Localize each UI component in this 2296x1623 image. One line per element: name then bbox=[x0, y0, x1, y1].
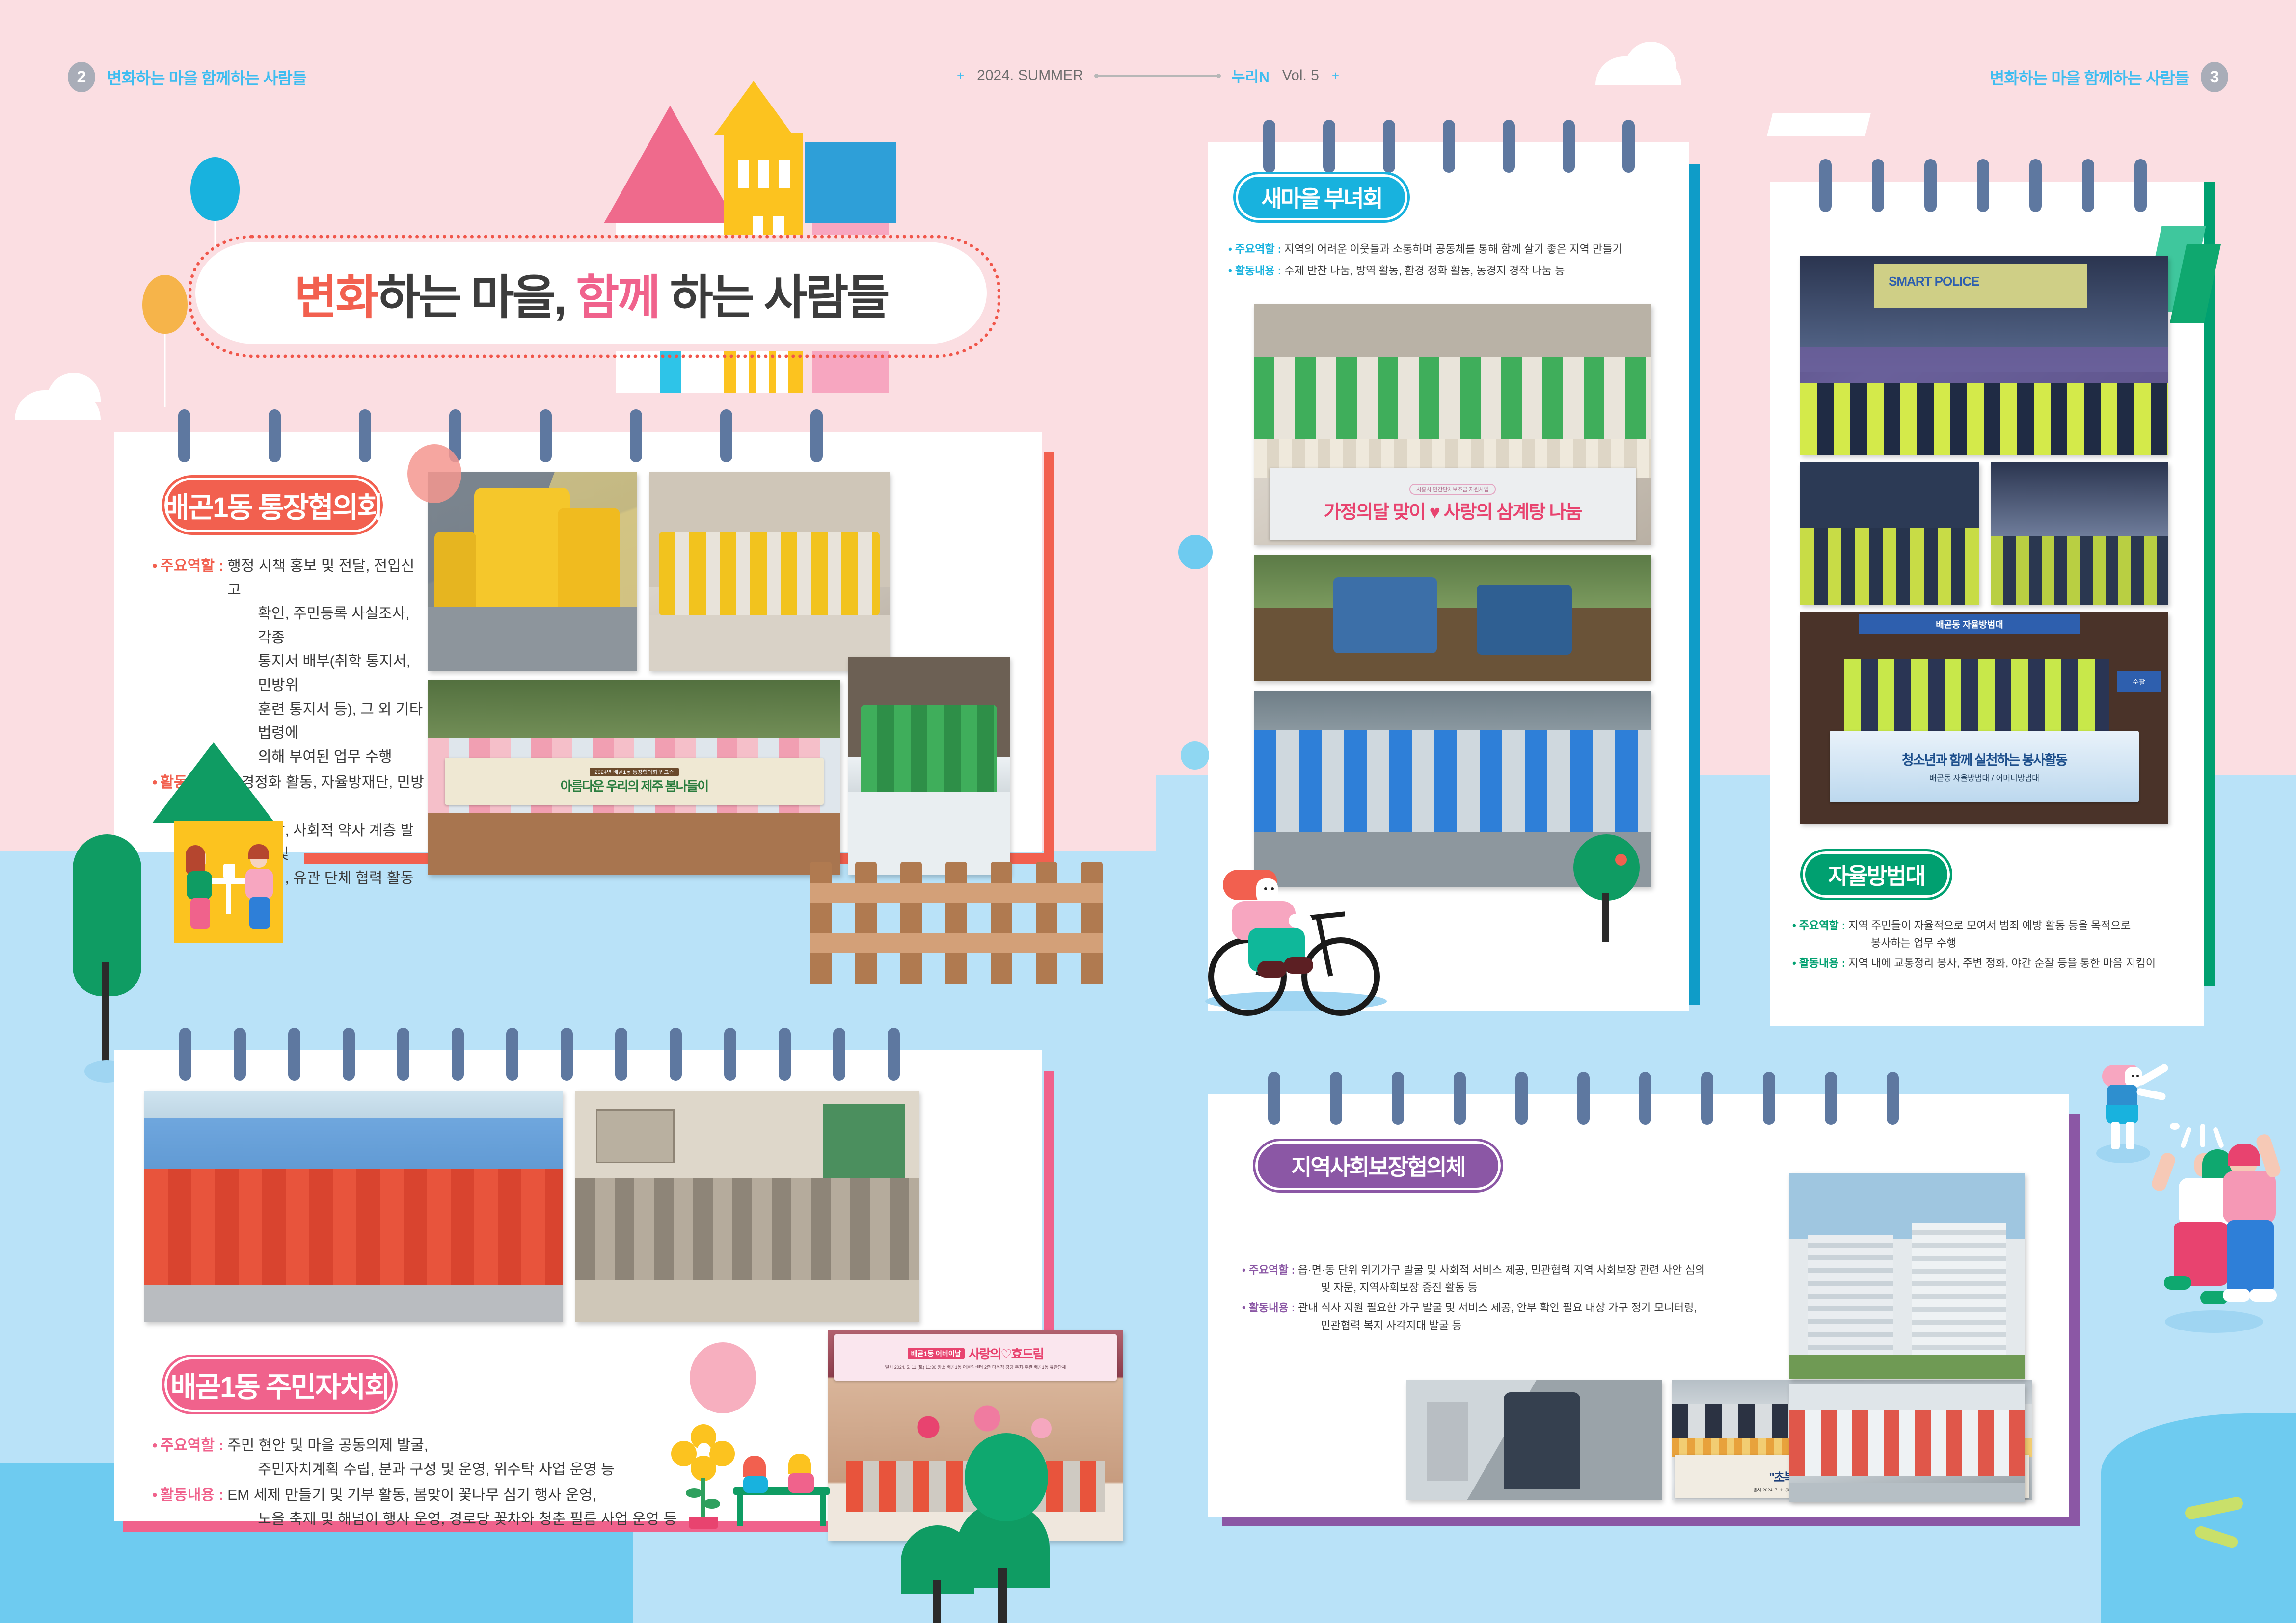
cafe-person-right-hair bbox=[248, 844, 269, 859]
spiral-binding-card5 bbox=[1208, 1072, 2069, 1094]
card3-role-row: •주요역할 : 지역의 어려운 이웃들과 소통하며 공동체를 통해 함께 살기 … bbox=[1228, 240, 1670, 258]
jeju-banner-main: 아름다운 우리의 제주 봄나들이 bbox=[561, 776, 708, 795]
card4-activity-text: 지역 내에 교통정리 봉사, 주변 정화, 야간 순찰 등을 통한 마음 지킴이 bbox=[1848, 955, 2156, 972]
hyo-drim-banner: 배곧1동 어버이날 사랑의♡효드림 일시 2024. 5. 11.(토) 11:… bbox=[834, 1334, 1117, 1381]
jeju-workshop-photo: 2024년 배곧1동 통장협의회 워크숍 아름다운 우리의 제주 봄나들이 bbox=[428, 680, 840, 875]
card2-activity-label: •활동내용 : bbox=[152, 1484, 223, 1531]
card3-activity-label: •활동내용 : bbox=[1228, 262, 1281, 280]
cafe-person-right-legs bbox=[249, 897, 270, 929]
title-part-1: 변화 bbox=[294, 271, 377, 324]
card3-accent-bar-right bbox=[1689, 164, 1700, 1005]
card3-role-text: 지역의 어려운 이웃들과 소통하며 공동체를 통해 함께 살기 좋은 지역 만들… bbox=[1284, 240, 1622, 258]
spiral-binding-card3 bbox=[1208, 120, 1689, 142]
jeju-banner-sub: 2024년 배곧1동 통장협의회 워크숍 bbox=[590, 768, 678, 776]
card5-role-text: 읍·면·동 단위 위기가구 발굴 및 사회적 서비스 제공, 민관협력 지역 사… bbox=[1298, 1261, 1705, 1296]
cheering-group-icon bbox=[2091, 1060, 2296, 1404]
night-patrol-b-photo bbox=[1991, 462, 2168, 605]
cyclist-icon bbox=[1205, 859, 1397, 1016]
flower-planting-photo bbox=[144, 1091, 563, 1322]
plus-icon-right: + bbox=[1332, 68, 1339, 83]
water-shape-right bbox=[2101, 1413, 2296, 1623]
card-bojang: 지역사회보장협의체 •주요역할 : 읍·면·동 단위 위기가구 발굴 및 사회적… bbox=[1208, 1094, 2069, 1517]
apartment-photo bbox=[1789, 1173, 2025, 1379]
yellow-window-a bbox=[738, 160, 749, 188]
card1-accent-bar-right bbox=[1044, 452, 1054, 864]
home-visit-photo bbox=[1406, 1380, 1662, 1500]
card1-role-label: •주요역할 : bbox=[152, 555, 223, 769]
yellow-window-d bbox=[753, 216, 763, 244]
hyo-drim-banner-sub: 일시 2024. 5. 11.(토) 11:30 장소 배곧1동 어울림센터 2… bbox=[885, 1364, 1066, 1370]
card5-activity-label: •활동내용 : bbox=[1242, 1299, 1295, 1334]
youth-volunteer-banner: 청소년과 함께 실천하는 봉사활동 배곧동 자율방범대 / 어머니방범대 bbox=[1830, 731, 2139, 802]
delivery-team-photo bbox=[1789, 1384, 2025, 1502]
card2-role-text: 주민 현안 및 마을 공동의제 발굴, 주민자치계획 수립, 분과 구성 및 운… bbox=[227, 1434, 614, 1482]
card2-role-label: •주요역할 : bbox=[152, 1434, 223, 1482]
flower-icon bbox=[671, 1424, 735, 1527]
card3-activity-row: •활동내용 : 수제 반찬 나눔, 방역 활동, 환경 정화 활동, 농경지 경… bbox=[1228, 262, 1670, 280]
cafe-cup-icon bbox=[223, 864, 235, 878]
header-divider bbox=[1096, 75, 1219, 77]
tree-trunk-bottom-b bbox=[933, 1580, 941, 1623]
hyo-drim-banner-tag: 배곧1동 어버이날 bbox=[908, 1348, 965, 1359]
header-right: 변화하는 마을 함께하는 사람들 3 bbox=[1990, 63, 2228, 91]
header-title-right: 변화하는 마을 함께하는 사람들 bbox=[1990, 65, 2189, 89]
card1-role-text: 행정 시책 홍보 및 전달, 전입신고 확인, 주민등록 사실조사, 각종 통지… bbox=[227, 555, 427, 769]
title-part-2: 하는 마을, bbox=[377, 271, 576, 324]
volume-label: Vol. 5 bbox=[1282, 67, 1319, 84]
farming-photo bbox=[1254, 555, 1651, 681]
cafe-house-roof-icon bbox=[152, 742, 275, 823]
page-number-right: 3 bbox=[2201, 62, 2228, 92]
spiral-binding-card2 bbox=[114, 1028, 1042, 1050]
bench-couple-icon bbox=[733, 1438, 837, 1531]
fence-icon bbox=[810, 855, 1109, 987]
smart-police-sign: SMART POLICE bbox=[1889, 274, 1979, 289]
samgyetang-banner: 시흥시 민간단체보조금 지원사업 가정의달 맞이 ♥ 사랑의 삼계탕 나눔 bbox=[1270, 468, 1635, 540]
card-title-saemaeul: 새마을 부녀회 bbox=[1233, 172, 1410, 223]
header-center: + 2024. SUMMER 누리N Vol. 5 + bbox=[0, 65, 2296, 86]
street-cleaning-photo bbox=[428, 472, 637, 671]
main-title-banner: 변화하는 마을, 함께 하는 사람들 bbox=[195, 242, 987, 344]
card4-activity-row: •활동내용 : 지역 내에 교통정리 봉사, 주변 정화, 야간 순찰 등을 통… bbox=[1792, 955, 2200, 972]
card3-role-label: •주요역할 : bbox=[1228, 240, 1281, 258]
card4-role-label: •주요역할 : bbox=[1792, 917, 1845, 952]
tree-icon-center bbox=[1573, 834, 1640, 901]
smart-police-photo: SMART POLICE bbox=[1800, 256, 2168, 455]
title-part-3: 함께 bbox=[576, 271, 659, 324]
brand-name: 누리N bbox=[1232, 65, 1270, 86]
night-patrol-a-photo bbox=[1800, 462, 1979, 605]
youth-volunteer-banner-sub: 배곧동 자율방범대 / 어머니방범대 bbox=[1929, 772, 2039, 783]
cafe-person-right-body bbox=[245, 869, 273, 899]
meeting-hall-photo bbox=[575, 1091, 919, 1322]
spiral-binding-card4 bbox=[1770, 159, 2204, 182]
rect-green-top-left bbox=[1767, 113, 1871, 136]
card4-body: •주요역할 : 지역 주민들이 자율적으로 모여서 범죄 예방 활동 등을 목적… bbox=[1792, 917, 2200, 972]
tree-trunk-center bbox=[1602, 893, 1609, 942]
bangbeom-station-sign: 배곧동 자율방범대 bbox=[1859, 614, 2080, 634]
food-sharing-photo bbox=[649, 472, 890, 671]
tree-trunk-bottom-a bbox=[998, 1568, 1007, 1623]
title-part-4: 하는 사람들 bbox=[659, 271, 888, 324]
cafe-person-left-body bbox=[187, 871, 212, 900]
card-title-bojang: 지역사회보장협의체 bbox=[1253, 1139, 1503, 1193]
cafe-person-left-legs bbox=[190, 898, 210, 929]
card-title-tongjang: 배곤1동 통장협의회 bbox=[162, 475, 383, 535]
apple-icon bbox=[1615, 854, 1627, 866]
card4-activity-label: •활동내용 : bbox=[1792, 955, 1845, 972]
hyo-drim-photo: 배곧1동 어버이날 사랑의♡효드림 일시 2024. 5. 11.(토) 11:… bbox=[828, 1330, 1123, 1541]
card3-body: •주요역할 : 지역의 어려운 이웃들과 소통하며 공동체를 통해 함께 살기 … bbox=[1228, 240, 1670, 279]
circle-green-card2 bbox=[965, 1433, 1048, 1521]
card5-accent-bar-bottom bbox=[1222, 1516, 2080, 1526]
orange-balloon-icon bbox=[142, 275, 188, 334]
card2-activity-text: EM 세제 만들기 및 기부 활동, 봄맞이 꽃나무 심기 행사 운영, 노을 … bbox=[227, 1484, 677, 1531]
card3-activity-text: 수제 반찬 나눔, 방역 활동, 환경 정화 활동, 농경지 경작 나눔 등 bbox=[1284, 262, 1565, 280]
card4-role-text: 지역 주민들이 자율적으로 모여서 범죄 예방 활동 등을 목적으로 봉사하는 … bbox=[1848, 917, 2131, 952]
card-title-bangbeom: 자율방범대 bbox=[1800, 849, 1952, 900]
circle-pink-card1 bbox=[407, 444, 461, 503]
yellow-window-b bbox=[758, 160, 769, 188]
yellow-window-e bbox=[773, 216, 784, 244]
hyo-drim-banner-main: 사랑의♡효드림 bbox=[969, 1344, 1044, 1362]
card-title-jumin: 배곧1동 주민자치회 bbox=[162, 1355, 398, 1414]
circle-pink-card2 bbox=[690, 1342, 756, 1413]
cyan-balloon-icon bbox=[190, 157, 240, 221]
samgyetang-banner-sub: 시흥시 민간단체보조금 지원사업 bbox=[1409, 484, 1496, 495]
card5-role-label: •주요역할 : bbox=[1242, 1261, 1295, 1296]
card4-role-row: •주요역할 : 지역 주민들이 자율적으로 모여서 범죄 예방 활동 등을 목적… bbox=[1792, 917, 2200, 952]
house-door-icon bbox=[660, 339, 681, 393]
cafe-table-leg bbox=[226, 883, 231, 914]
tree-trunk-left bbox=[102, 962, 109, 1075]
spiral-binding-card1 bbox=[114, 409, 1042, 432]
samgyetang-banner-main: 가정의달 맞이 ♥ 사랑의 삼계탕 나눔 bbox=[1324, 497, 1582, 524]
plus-icon-left: + bbox=[957, 68, 964, 83]
card1-role-row: •주요역할 : 행정 시책 홍보 및 전달, 전입신고 확인, 주민등록 사실조… bbox=[152, 555, 427, 769]
patrol-door-label: 순찰 bbox=[2117, 671, 2161, 692]
youth-volunteer-banner-main: 청소년과 함께 실천하는 봉사활동 bbox=[1902, 749, 2067, 769]
card5-activity-text: 관내 식사 지원 필요한 가구 발굴 및 서비스 제공, 안부 확인 필요 대상… bbox=[1298, 1299, 1697, 1334]
newsletter-spread: 2 변화하는 마을 함께하는 사람들 + 2024. SUMMER 누리N Vo… bbox=[0, 0, 2296, 1623]
page-title: 변화하는 마을, 함께 하는 사람들 bbox=[294, 259, 888, 327]
blue-roof-house-icon bbox=[805, 142, 896, 223]
yellow-house-roof-icon bbox=[714, 81, 793, 135]
jeju-banner: 2024년 배곧1동 통장협의회 워크숍 아름다운 우리의 제주 봄나들이 bbox=[445, 758, 824, 805]
youth-volunteer-photo: 배곧동 자율방범대 순찰 청소년과 함께 실천하는 봉사활동 배곧동 자율방범대… bbox=[1800, 612, 2168, 824]
card-bangbeom: SMART POLICE 배곧동 자율방범대 순찰 청소년과 함께 실천하는 봉… bbox=[1770, 182, 2204, 1026]
card-jumin: 배곧1동 어버이날 사랑의♡효드림 일시 2024. 5. 11.(토) 11:… bbox=[114, 1050, 1042, 1521]
issue-date: 2024. SUMMER bbox=[977, 67, 1083, 84]
circle-dot-cyan-2 bbox=[1181, 741, 1209, 770]
circle-dot-cyan bbox=[1178, 535, 1213, 569]
snow-removal-photo bbox=[848, 657, 1010, 875]
cloud-icon-left2 bbox=[47, 373, 101, 402]
yellow-window-c bbox=[779, 160, 790, 188]
card5-accent-bar-right bbox=[2069, 1114, 2080, 1526]
samgyetang-sharing-photo: 시흥시 민간단체보조금 지원사업 가정의달 맞이 ♥ 사랑의 삼계탕 나눔 bbox=[1254, 304, 1651, 545]
